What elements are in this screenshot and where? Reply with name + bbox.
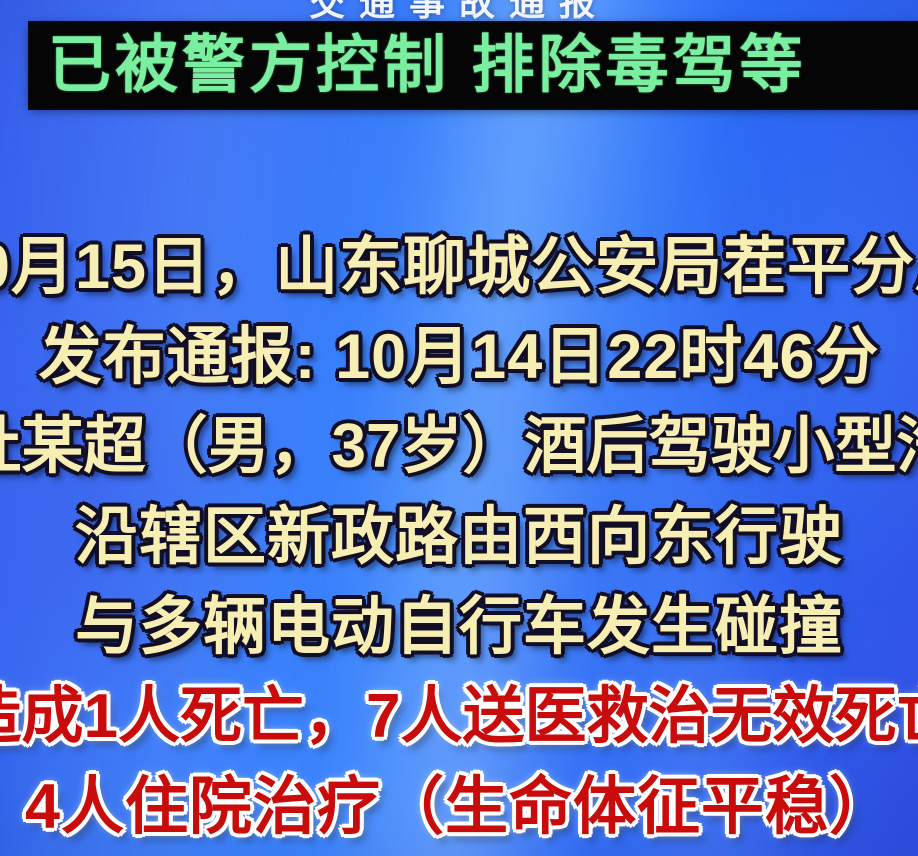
news-card-poster: 交通事故通报 已被警方控制 排除毒驾等 10月15日，山东聊城公安局茬平分局 发… bbox=[0, 0, 918, 856]
headline-banner: 已被警方控制 排除毒驾等 bbox=[30, 23, 918, 108]
body-line-1: 10月15日，山东聊城公安局茬平分局 bbox=[0, 222, 918, 312]
body-text-block: 10月15日，山东聊城公安局茬平分局 发布通报: 10月14日22时46分 杜某… bbox=[0, 222, 918, 852]
headline-text: 已被警方控制 排除毒驾等 bbox=[48, 34, 807, 97]
body-line-7: 4人住院治疗（生命体征平稳） bbox=[0, 762, 918, 852]
body-line-6: 造成1人死亡，7人送医救治无效死亡 bbox=[0, 672, 918, 762]
body-line-2: 发布通报: 10月14日22时46分 bbox=[0, 312, 918, 402]
body-line-3: 杜某超（男，37岁）酒后驾驶小型汽 bbox=[0, 402, 918, 492]
body-line-4: 沿辖区新政路由西向东行驶 bbox=[0, 492, 918, 582]
body-line-5: 与多辆电动自行车发生碰撞 bbox=[0, 582, 918, 672]
